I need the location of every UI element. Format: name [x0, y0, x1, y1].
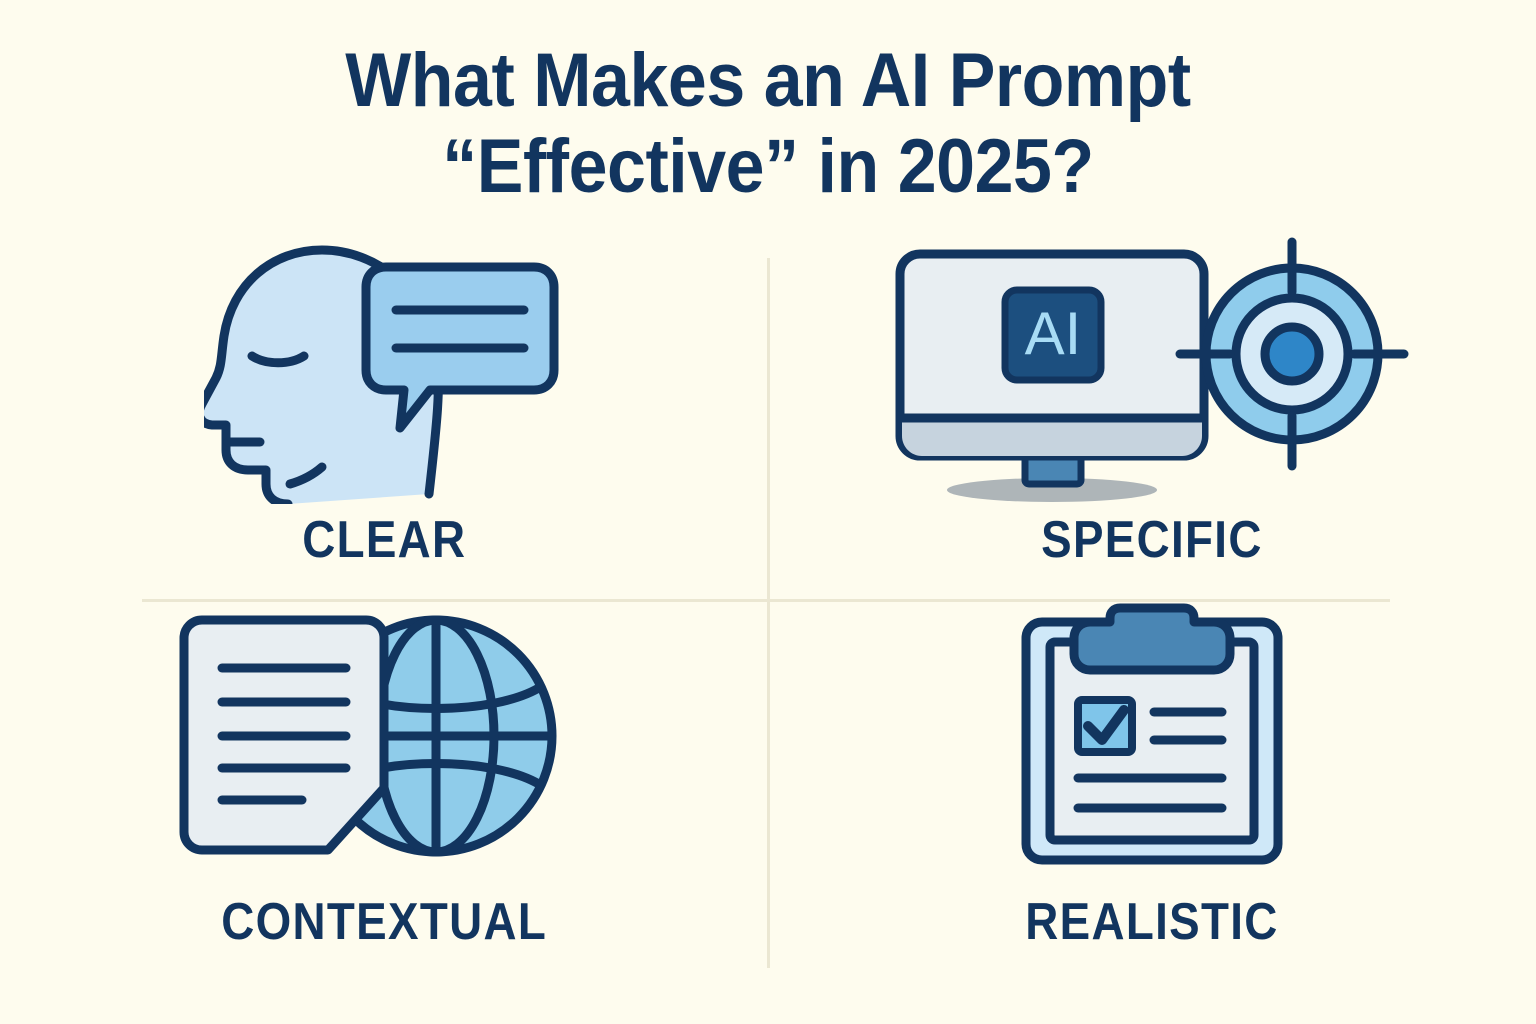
quadrant-specific: AI SPECIFIC	[768, 232, 1536, 600]
title-line-2: “Effective” in 2025?	[61, 124, 1474, 210]
quadrant-label-contextual: CONTEXTUAL	[221, 894, 547, 950]
quadrant-contextual: CONTEXTUAL	[0, 600, 768, 992]
quadrant-clear: CLEAR	[0, 232, 768, 600]
quadrant-label-specific: SPECIFIC	[1041, 512, 1263, 568]
quadrant-label-realistic: REALISTIC	[1025, 894, 1278, 950]
quadrant-grid: CLEAR AI	[0, 232, 1536, 992]
infographic-poster: What Makes an AI Prompt “Effective” in 2…	[0, 0, 1536, 1024]
document-globe-icon	[174, 600, 594, 872]
quadrant-clipboard: REALISTIC	[768, 600, 1536, 992]
ai-badge-text: AI	[1025, 300, 1082, 367]
quadrant-label-clear: CLEAR	[302, 512, 466, 568]
head-profile-speech-bubble-icon	[204, 232, 564, 504]
clipboard-checklist-icon	[1012, 600, 1292, 872]
title-line-1: What Makes an AI Prompt	[61, 38, 1474, 124]
page-title: What Makes an AI Prompt “Effective” in 2…	[0, 38, 1536, 210]
monitor-ai-target-icon: AI	[892, 232, 1412, 504]
